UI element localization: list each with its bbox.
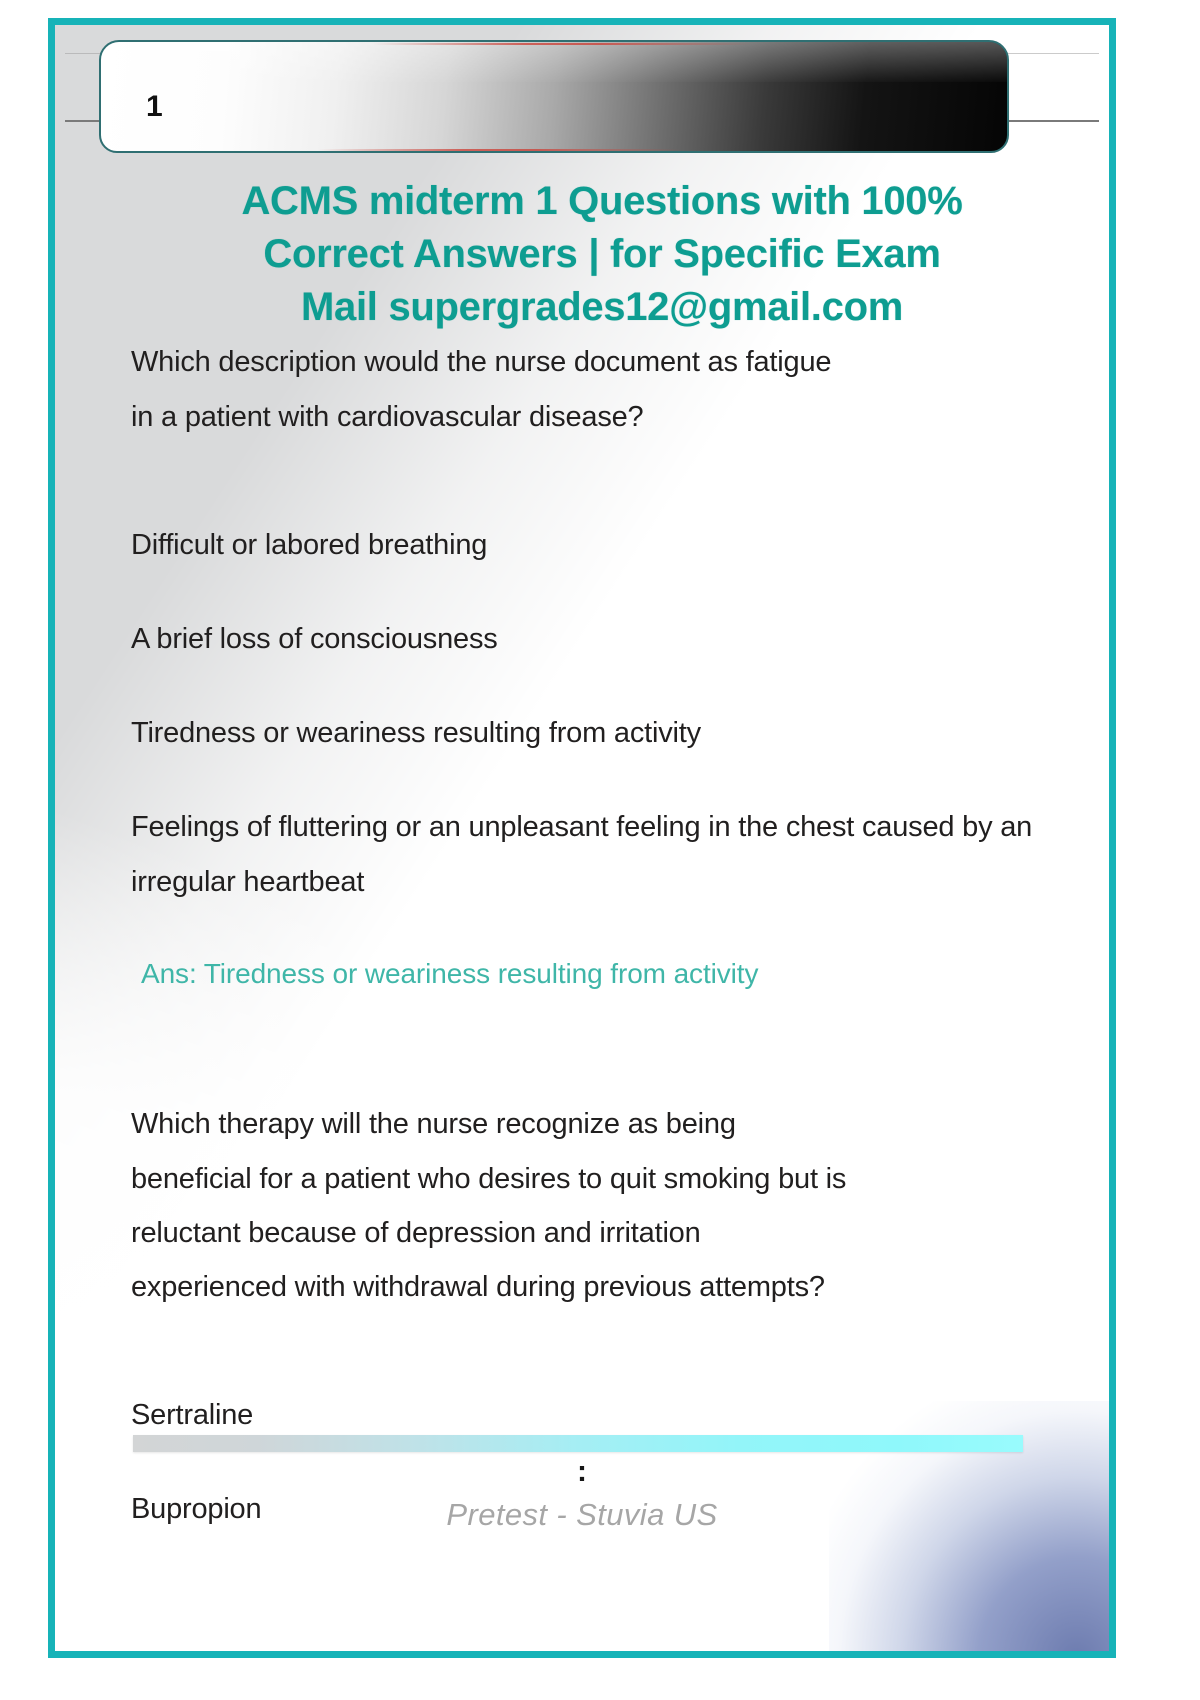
page-title-line-1: ACMS midterm 1 Questions with 100%	[145, 175, 1059, 228]
spacer	[131, 572, 1073, 612]
question-1-prompt-line-2: in a patient with cardiovascular disease…	[131, 390, 1073, 444]
question-1-prompt: Which description would the nurse docume…	[131, 335, 1073, 443]
spacer	[131, 999, 1073, 1095]
question-1-option-3[interactable]: Tiredness or weariness resulting from ac…	[131, 706, 1073, 760]
footer-note: Pretest - Stuvia US	[55, 1497, 1109, 1533]
question-1-prompt-line-1: Which description would the nurse docume…	[131, 335, 1073, 389]
question-1-option-2[interactable]: A brief loss of consciousness	[131, 612, 1073, 666]
spacer	[131, 1314, 1073, 1388]
question-1-option-1[interactable]: Difficult or labored breathing	[131, 518, 1073, 572]
question-1-options: Difficult or labored breathing A brief l…	[131, 518, 1073, 909]
page-title: ACMS midterm 1 Questions with 100% Corre…	[145, 175, 1059, 333]
banner-accent-line-bottom	[318, 149, 680, 151]
question-1-option-4[interactable]: Feelings of fluttering or an unpleasant …	[131, 800, 1073, 908]
slide-content: ACMS midterm 1 Questions with 100% Corre…	[55, 175, 1109, 1537]
spacer	[131, 444, 1073, 518]
question-1-answer: Ans: Tiredness or weariness resulting fr…	[141, 949, 1073, 999]
page-number: 1	[146, 92, 163, 122]
spacer	[131, 760, 1073, 800]
question-2-prompt-line-4: experienced with withdrawal during previ…	[131, 1260, 1073, 1314]
spacer	[131, 666, 1073, 706]
page-title-line-2: Correct Answers | for Specific Exam	[145, 228, 1059, 281]
banner-gloss	[101, 42, 1007, 82]
question-2-prompt-line-3: reluctant because of depression and irri…	[131, 1206, 1073, 1260]
question-2-prompt-line-1: Which therapy will the nurse recognize a…	[131, 1097, 1073, 1151]
question-2-prompt-line-2: beneficial for a patient who desires to …	[131, 1152, 1073, 1206]
footer-colon-mark: :	[55, 1457, 1109, 1487]
spacer	[131, 909, 1073, 949]
footer-accent-bar	[133, 1435, 1023, 1452]
page-number-banner: 1	[99, 40, 1009, 153]
slide-frame: 1 ACMS midterm 1 Questions with 100% Cor…	[48, 18, 1116, 1658]
question-2-prompt: Which therapy will the nurse recognize a…	[131, 1097, 1073, 1314]
page-title-line-3: Mail supergrades12@gmail.com	[145, 281, 1059, 334]
banner-accent-line-top	[373, 43, 754, 45]
